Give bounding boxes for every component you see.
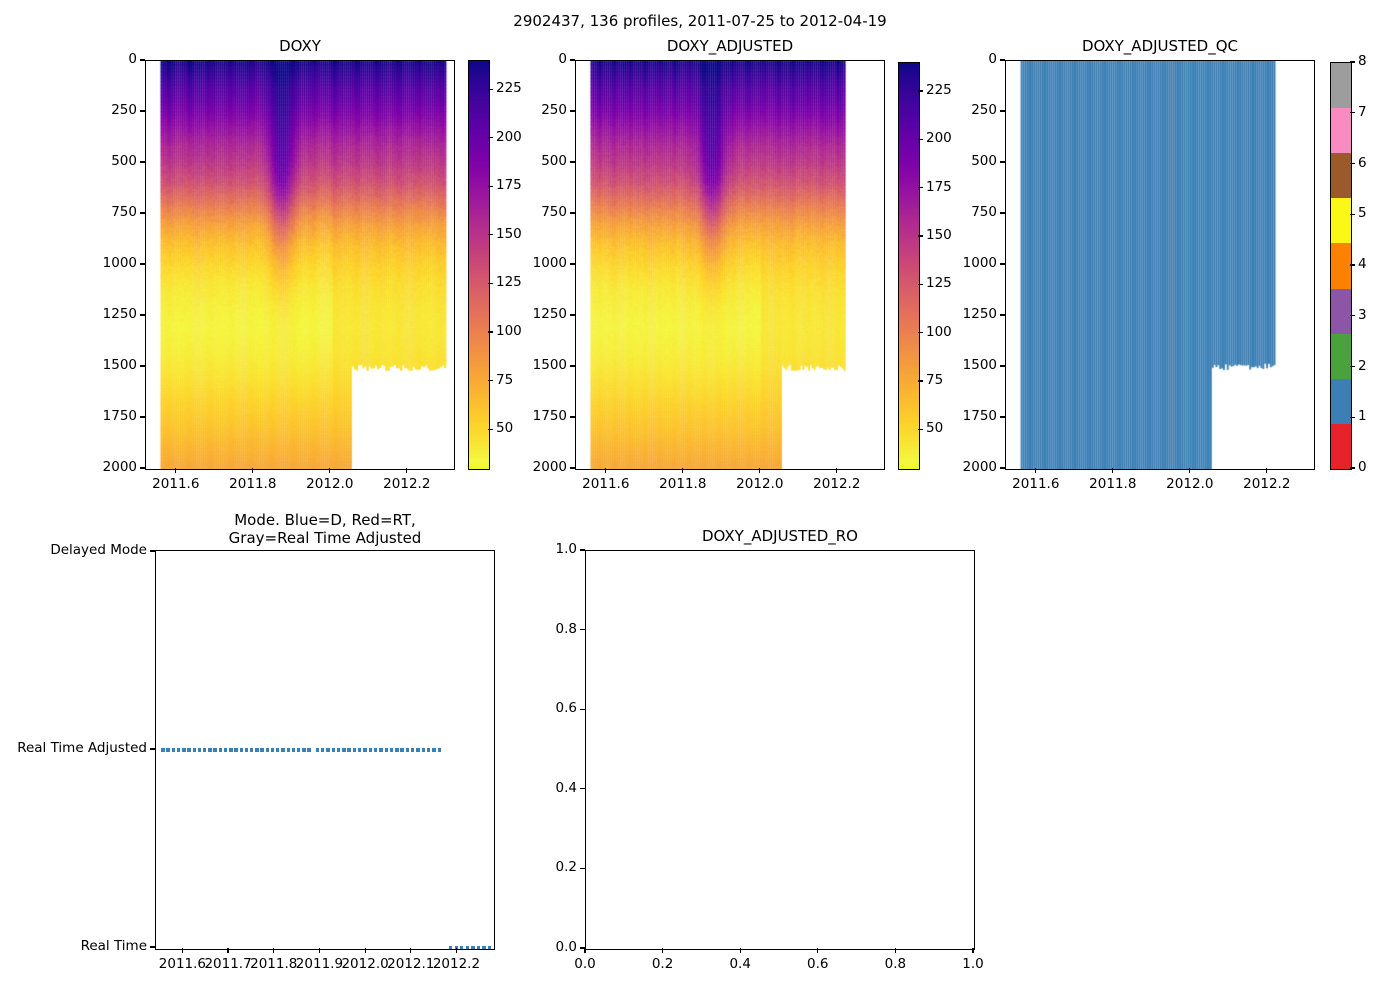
mode-marker — [255, 748, 258, 752]
y-tick-label: 500 — [455, 153, 567, 169]
y-tick-label: 2000 — [455, 459, 567, 475]
y-tick-label: 250 — [885, 102, 997, 118]
mode-marker — [250, 748, 253, 752]
colorbar-tick-label: 50 — [496, 420, 513, 436]
mode-marker — [307, 748, 310, 752]
y-tick-mark — [1000, 314, 1005, 315]
colorbar-tick-mark — [488, 380, 493, 381]
mode-x-tick-label: 2012.2 — [406, 956, 506, 972]
x-tick-mark — [1189, 468, 1190, 473]
y-tick-label: 500 — [25, 153, 137, 169]
ro-x-tick-label: 1.0 — [923, 956, 1023, 972]
mode-x-tick-mark — [273, 948, 274, 953]
mode-y-tick-mark — [150, 748, 155, 749]
x-tick-mark — [1266, 468, 1267, 473]
colorbar-tick-mark — [918, 139, 923, 140]
y-tick-mark — [570, 416, 575, 417]
panel-title-mode: Mode. Blue=D, Red=RT, Gray=Real Time Adj… — [155, 512, 495, 547]
qc-colorbar-tick-mark — [1350, 264, 1355, 265]
colorbar-tick-label: 200 — [496, 129, 522, 145]
mode-marker — [432, 748, 435, 752]
colorbar-tick-mark — [918, 429, 923, 430]
figure-suptitle: 2902437, 136 profiles, 2011-07-25 to 201… — [0, 12, 1400, 30]
y-tick-mark — [1000, 161, 1005, 162]
mode-marker — [488, 946, 491, 950]
qc-colorbar-band-5 — [1331, 198, 1351, 244]
mode-marker — [316, 748, 319, 752]
mode-marker — [219, 748, 222, 752]
mode-marker — [342, 748, 345, 752]
mode-marker — [337, 748, 340, 752]
qc-colorbar-band-8 — [1331, 63, 1351, 109]
mode-y-tick-label: Delayed Mode — [0, 542, 147, 558]
x-tick-label: 2012.2 — [787, 476, 887, 492]
panel-title-doxy: DOXY — [145, 38, 455, 56]
colorbar-tick-label: 225 — [496, 80, 522, 96]
y-tick-mark — [570, 263, 575, 264]
y-tick-label: 750 — [25, 204, 137, 220]
y-tick-mark — [140, 263, 145, 264]
mode-marker — [374, 748, 377, 752]
ro-y-tick-label: 1.0 — [495, 541, 577, 557]
mode-marker — [400, 748, 403, 752]
ro-y-tick-mark — [580, 868, 585, 869]
y-tick-mark — [140, 59, 145, 60]
x-tick-mark — [1112, 468, 1113, 473]
mode-marker — [406, 748, 409, 752]
colorbar-tick-mark — [918, 187, 923, 188]
mode-marker — [172, 748, 175, 752]
ro-x-tick-mark — [740, 948, 741, 953]
ro-x-tick-mark — [895, 948, 896, 953]
colorbar-tick-mark — [918, 332, 923, 333]
mode-marker — [266, 748, 269, 752]
y-tick-label: 1500 — [25, 357, 137, 373]
mode-marker — [281, 748, 284, 752]
qc-colorbar-tick-mark — [1350, 417, 1355, 418]
mode-marker — [369, 748, 372, 752]
y-tick-mark — [140, 365, 145, 366]
y-tick-mark — [140, 314, 145, 315]
x-tick-mark — [175, 468, 176, 473]
qc-colorbar-band-3 — [1331, 289, 1351, 335]
y-tick-label: 2000 — [885, 459, 997, 475]
mode-marker — [347, 748, 350, 752]
colorbar-tick-label: 225 — [926, 82, 952, 98]
qc-colorbar-band-2 — [1331, 334, 1351, 380]
mode-marker — [379, 748, 382, 752]
y-tick-mark — [570, 467, 575, 468]
mode-marker — [411, 748, 414, 752]
x-tick-mark — [759, 468, 760, 473]
mode-marker — [358, 748, 361, 752]
y-tick-label: 1000 — [25, 255, 137, 271]
mode-marker — [234, 748, 237, 752]
ro-y-tick-label: 0.2 — [495, 859, 577, 875]
mode-x-tick-mark — [227, 948, 228, 953]
ro-x-tick-mark — [972, 948, 973, 953]
y-tick-mark — [1000, 59, 1005, 60]
mode-marker — [245, 748, 248, 752]
y-tick-label: 0 — [455, 51, 567, 67]
ro-y-tick-mark — [580, 709, 585, 710]
y-tick-mark — [570, 314, 575, 315]
doxy-adjusted-qc-heatmap — [1006, 61, 1314, 469]
colorbar-tick-label: 150 — [926, 227, 952, 243]
mode-marker — [395, 748, 398, 752]
ro-y-tick-label: 0.6 — [495, 700, 577, 716]
panel-doxy-axes[interactable] — [145, 60, 455, 470]
mode-marker — [321, 748, 324, 752]
y-tick-mark — [1000, 365, 1005, 366]
mode-marker — [182, 748, 185, 752]
y-tick-mark — [140, 416, 145, 417]
mode-y-tick-mark — [150, 946, 155, 947]
qc-colorbar-tick-label: 5 — [1358, 205, 1367, 221]
y-tick-label: 2000 — [25, 459, 137, 475]
panel-title-doxy-adjusted: DOXY_ADJUSTED — [575, 38, 885, 56]
colorbar-tick-label: 200 — [926, 130, 952, 146]
mode-marker — [260, 748, 263, 752]
qc-colorbar-tick-label: 2 — [1358, 358, 1367, 374]
ro-x-tick-mark — [817, 948, 818, 953]
mode-marker — [224, 748, 227, 752]
y-tick-label: 1500 — [885, 357, 997, 373]
x-tick-mark — [329, 468, 330, 473]
mode-marker — [332, 748, 335, 752]
x-tick-mark — [682, 468, 683, 473]
colorbar-tick-mark — [918, 90, 923, 91]
colorbar-tick-label: 125 — [926, 275, 952, 291]
y-tick-label: 750 — [885, 204, 997, 220]
colorbar-tick-mark — [918, 284, 923, 285]
qc-colorbar-band-7 — [1331, 108, 1351, 154]
mode-y-tick-mark — [150, 550, 155, 551]
mode-marker — [390, 748, 393, 752]
ro-y-tick-mark — [580, 788, 585, 789]
y-tick-mark — [570, 365, 575, 366]
colorbar-tick-label: 100 — [496, 323, 522, 339]
mode-marker — [193, 748, 196, 752]
ro-y-tick-label: 0.4 — [495, 780, 577, 796]
mode-marker — [161, 748, 164, 752]
qc-colorbar-band-6 — [1331, 153, 1351, 199]
y-tick-label: 1000 — [455, 255, 567, 271]
x-tick-mark — [1035, 468, 1036, 473]
mode-x-tick-mark — [410, 948, 411, 953]
colorbar-tick-label: 175 — [496, 177, 522, 193]
figure-canvas: 2902437, 136 profiles, 2011-07-25 to 201… — [0, 0, 1400, 1000]
qc-colorbar-tick-mark — [1350, 366, 1355, 367]
x-tick-label: 2012.2 — [1217, 476, 1317, 492]
ro-x-tick-mark — [662, 948, 663, 953]
qc-colorbar-tick-mark — [1350, 61, 1355, 62]
y-tick-mark — [570, 212, 575, 213]
qc-colorbar-tick-mark — [1350, 467, 1355, 468]
qc-colorbar-tick-label: 0 — [1358, 459, 1367, 475]
ro-y-tick-mark — [580, 549, 585, 550]
colorbar-tick-mark — [918, 235, 923, 236]
y-tick-mark — [140, 161, 145, 162]
colorbar-tick-mark — [488, 186, 493, 187]
mode-marker — [276, 748, 279, 752]
y-tick-mark — [1000, 416, 1005, 417]
panel-title-doxy-adjusted-qc: DOXY_ADJUSTED_QC — [1005, 38, 1315, 56]
qc-colorbar-band-1 — [1331, 379, 1351, 425]
mode-x-tick-mark — [319, 948, 320, 953]
qc-colorbar-band-0 — [1331, 424, 1351, 470]
qc-colorbar-tick-mark — [1350, 112, 1355, 113]
qc-colorbar-tick-mark — [1350, 315, 1355, 316]
panel-title-doxy-adjusted-ro: DOXY_ADJUSTED_RO — [585, 528, 975, 546]
y-tick-label: 1250 — [885, 306, 997, 322]
mode-marker — [422, 748, 425, 752]
y-tick-label: 750 — [455, 204, 567, 220]
colorbar-tick-mark — [488, 331, 493, 332]
mode-marker — [477, 946, 480, 950]
qc-colorbar-tick-mark — [1350, 214, 1355, 215]
mode-marker — [302, 748, 305, 752]
colorbar-tick-mark — [918, 380, 923, 381]
y-tick-mark — [1000, 212, 1005, 213]
colorbar-tick-label: 150 — [496, 226, 522, 242]
mode-marker — [416, 748, 419, 752]
panel-mode-axes[interactable] — [155, 550, 495, 950]
y-tick-label: 1750 — [25, 408, 137, 424]
x-tick-mark — [252, 468, 253, 473]
y-tick-mark — [570, 110, 575, 111]
y-tick-mark — [570, 161, 575, 162]
y-tick-mark — [140, 467, 145, 468]
colorbar-tick-label: 125 — [496, 274, 522, 290]
mode-marker — [229, 748, 232, 752]
mode-marker — [292, 748, 295, 752]
y-tick-mark — [1000, 467, 1005, 468]
qc-colorbar-tick-label: 8 — [1358, 53, 1367, 69]
mode-marker — [213, 748, 216, 752]
colorbar-tick-mark — [488, 234, 493, 235]
qc-colorbar-band-4 — [1331, 243, 1351, 289]
qc-colorbar-tick-label: 4 — [1358, 256, 1367, 272]
y-tick-label: 0 — [885, 51, 997, 67]
x-tick-mark — [605, 468, 606, 473]
panel-doxy-adjusted-axes[interactable] — [575, 60, 885, 470]
mode-marker — [297, 748, 300, 752]
qc-colorbar-tick-label: 3 — [1358, 307, 1367, 323]
colorbar-tick-mark — [488, 283, 493, 284]
qc-colorbar-tick-label: 6 — [1358, 155, 1367, 171]
y-tick-mark — [140, 212, 145, 213]
colorbar-tick-label: 75 — [926, 372, 943, 388]
y-tick-mark — [1000, 110, 1005, 111]
y-tick-label: 250 — [25, 102, 137, 118]
colorbar-tick-label: 175 — [926, 179, 952, 195]
colorbar-tick-label: 100 — [926, 324, 952, 340]
mode-marker — [198, 748, 201, 752]
colorbar-tick-label: 50 — [926, 420, 943, 436]
mode-marker — [385, 748, 388, 752]
ro-y-tick-mark — [580, 629, 585, 630]
ro-y-tick-label: 0.0 — [495, 939, 577, 955]
x-tick-mark — [836, 468, 837, 473]
mode-marker — [482, 946, 485, 950]
mode-marker — [326, 748, 329, 752]
qc-colorbar-tick-mark — [1350, 163, 1355, 164]
mode-marker — [353, 748, 356, 752]
x-tick-label: 2012.2 — [357, 476, 457, 492]
mode-marker — [208, 748, 211, 752]
y-tick-label: 1250 — [25, 306, 137, 322]
y-tick-mark — [570, 59, 575, 60]
y-tick-label: 1250 — [455, 306, 567, 322]
y-tick-mark — [1000, 263, 1005, 264]
mode-marker — [166, 748, 169, 752]
y-tick-label: 500 — [885, 153, 997, 169]
mode-marker — [187, 748, 190, 752]
ro-x-tick-mark — [584, 948, 585, 953]
colorbar-tick-mark — [488, 89, 493, 90]
mode-marker — [466, 946, 469, 950]
mode-marker — [427, 748, 430, 752]
x-tick-mark — [406, 468, 407, 473]
panel-doxy-adjusted-qc-axes[interactable] — [1005, 60, 1315, 470]
mode-marker — [471, 946, 474, 950]
colorbar-tick-label: 75 — [496, 372, 513, 388]
mode-marker — [287, 748, 290, 752]
colorbar-tick-mark — [488, 429, 493, 430]
y-tick-label: 1000 — [885, 255, 997, 271]
mode-marker — [240, 748, 243, 752]
mode-marker — [203, 748, 206, 752]
y-tick-label: 250 — [455, 102, 567, 118]
doxy-adjusted-heatmap — [576, 61, 884, 469]
mode-x-tick-mark — [456, 948, 457, 953]
mode-marker — [177, 748, 180, 752]
mode-marker — [271, 748, 274, 752]
qc-colorbar-tick-label: 1 — [1358, 408, 1367, 424]
mode-y-tick-label: Real Time Adjusted — [0, 740, 147, 756]
qc-colorbar-tick-label: 7 — [1358, 104, 1367, 120]
y-tick-label: 0 — [25, 51, 137, 67]
y-tick-mark — [140, 110, 145, 111]
colorbar-tick-mark — [488, 137, 493, 138]
doxy-heatmap — [146, 61, 454, 469]
mode-marker — [438, 748, 441, 752]
ro-y-tick-label: 0.8 — [495, 621, 577, 637]
colorbar-doxy-adjusted-qc[interactable] — [1330, 62, 1352, 470]
mode-marker — [460, 946, 463, 950]
mode-marker — [363, 748, 366, 752]
mode-y-tick-label: Real Time — [0, 938, 147, 954]
mode-x-tick-mark — [182, 948, 183, 953]
mode-x-tick-mark — [365, 948, 366, 953]
mode-marker — [449, 946, 452, 950]
panel-doxy-adjusted-ro-axes[interactable] — [585, 550, 975, 950]
